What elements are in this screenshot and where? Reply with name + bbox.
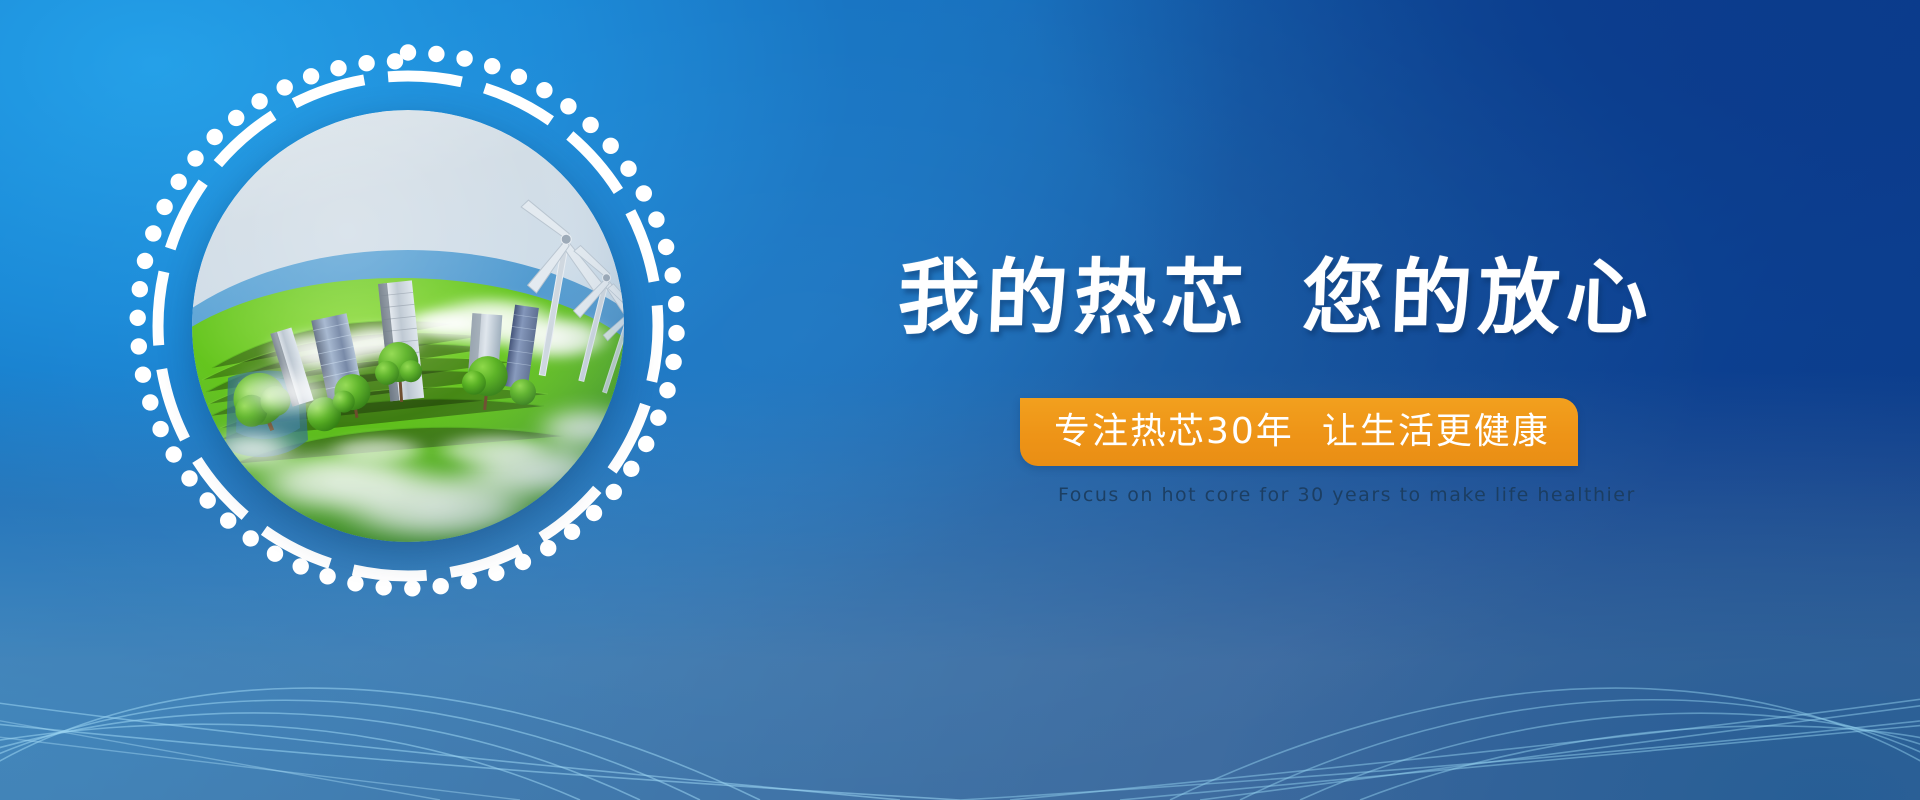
globe-image <box>192 110 624 542</box>
badge-text-2: 让生活更健康 <box>1322 414 1550 450</box>
headline: 我的热芯 您的放心 <box>897 258 1656 340</box>
badge-text-1: 专注热芯30年 <box>1054 414 1294 450</box>
headline-part-2: 您的放心 <box>1301 258 1656 340</box>
english-subtitle: Focus on hot core for 30 years to make l… <box>1058 484 1636 507</box>
eco-globe-graphic <box>120 38 696 614</box>
headline-part-1: 我的热芯 <box>897 258 1252 340</box>
hero-banner: 我的热芯 您的放心 专注热芯30年 让生活更健康 Focus on hot co… <box>0 0 1920 800</box>
slogan-badge: 专注热芯30年 让生活更健康 <box>1020 398 1578 466</box>
